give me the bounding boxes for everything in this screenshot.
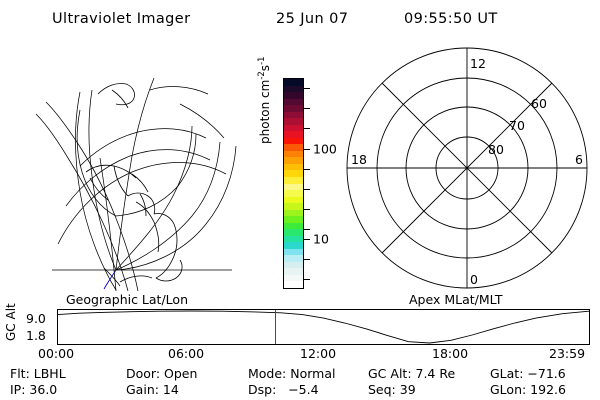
colorbar-tick-9 xyxy=(304,259,310,260)
geographic-image-panel[interactable] xyxy=(20,46,252,291)
colorbar-band-31 xyxy=(284,281,303,288)
colorbar-tick-1 xyxy=(304,108,310,109)
status-field-ip: IP: 36.0 xyxy=(10,382,57,397)
status-field-seq: Seq: 39 xyxy=(368,382,416,397)
colorbar-unit-mid: s xyxy=(258,65,272,71)
status-row-primary: Flt: LBHLDoor: OpenMode: NormalGC Alt: 7… xyxy=(0,366,600,382)
colorbar-tick-2 xyxy=(304,128,310,129)
colorbar-tick-4 xyxy=(304,169,310,170)
time-tick-1200: 12:00 xyxy=(300,346,336,361)
altitude-orbit-plot[interactable] xyxy=(57,309,590,345)
header-bar: Ultraviolet Imager 25 Jun 07 09:55:50 UT xyxy=(0,8,600,30)
lat-label-80: 80 xyxy=(488,142,504,157)
colorbar-label-100: 100 xyxy=(313,141,337,156)
altitude-tick-low: 1.8 xyxy=(26,328,46,343)
colorbar-tick-marks xyxy=(304,78,311,289)
colorbar-gradient xyxy=(283,78,304,289)
time-tick-0600: 06:00 xyxy=(168,346,204,361)
instrument-title: Ultraviolet Imager xyxy=(52,11,190,27)
mlt-label-12: 12 xyxy=(470,56,486,71)
time-tick-0000: 00:00 xyxy=(38,346,74,361)
colorbar-tick-8 xyxy=(304,239,310,240)
colorbar-unit-exp1: -2 xyxy=(257,71,267,79)
caption-apex: Apex MLat/MLT xyxy=(409,292,503,307)
lat-label-70: 70 xyxy=(509,118,525,133)
apex-mlat-mlt-panel[interactable]: 12 6 0 18 60 70 80 xyxy=(345,46,595,291)
colorbar-unit-exp2: -1 xyxy=(257,56,267,64)
status-field-gain: Gain: 14 xyxy=(126,382,179,397)
colorbar-group: photon cm-2s-1 10010 xyxy=(255,46,350,291)
polar-grid xyxy=(347,48,587,288)
status-field-door: Door: Open xyxy=(126,366,197,381)
altitude-axis-label: GC Alt xyxy=(4,303,18,341)
altitude-trace xyxy=(58,310,589,344)
mlt-label-0: 0 xyxy=(470,272,478,287)
lat-label-60: 60 xyxy=(531,96,547,111)
status-field-mode: Mode: Normal xyxy=(248,366,335,381)
colorbar-tick-10 xyxy=(304,279,310,280)
status-field-gc-alt: GC Alt: 7.4 Re xyxy=(368,366,455,381)
mlt-label-6: 6 xyxy=(575,152,583,167)
time-tick-2359: 23:59 xyxy=(549,346,585,361)
time-tick-1800: 18:00 xyxy=(432,346,468,361)
status-row-secondary: IP: 36.0Gain: 14Dsp: −5.4Seq: 39GLon: 19… xyxy=(0,382,600,398)
observation-time: 09:55:50 UT xyxy=(404,11,498,27)
terminator-line xyxy=(104,270,116,289)
status-field-flt: Flt: LBHL xyxy=(10,366,66,381)
observation-date: 25 Jun 07 xyxy=(276,11,348,27)
status-field-dsp: Dsp: −5.4 xyxy=(248,382,319,397)
status-field-glon: GLon: 192.6 xyxy=(490,382,566,397)
caption-geographic: Geographic Lat/Lon xyxy=(66,292,188,307)
colorbar-tick-0 xyxy=(304,88,310,89)
colorbar-unit-main: photon cm xyxy=(258,80,272,144)
colorbar-label-10: 10 xyxy=(313,231,329,246)
current-time-marker xyxy=(275,310,277,344)
colorbar-axis-label: photon cm-2s-1 xyxy=(257,56,272,144)
colorbar-tick-7 xyxy=(304,229,310,230)
mlt-label-18: 18 xyxy=(351,152,367,167)
colorbar-tick-6 xyxy=(304,209,310,210)
geographic-graticule xyxy=(36,78,236,291)
colorbar-tick-5 xyxy=(304,189,310,190)
status-field-glat: GLat: −71.6 xyxy=(490,366,566,381)
time-axis-labels: 00:0006:0012:0018:0023:59 xyxy=(0,346,600,362)
colorbar-tick-3 xyxy=(304,149,310,150)
altitude-tick-high: 9.0 xyxy=(26,311,46,326)
